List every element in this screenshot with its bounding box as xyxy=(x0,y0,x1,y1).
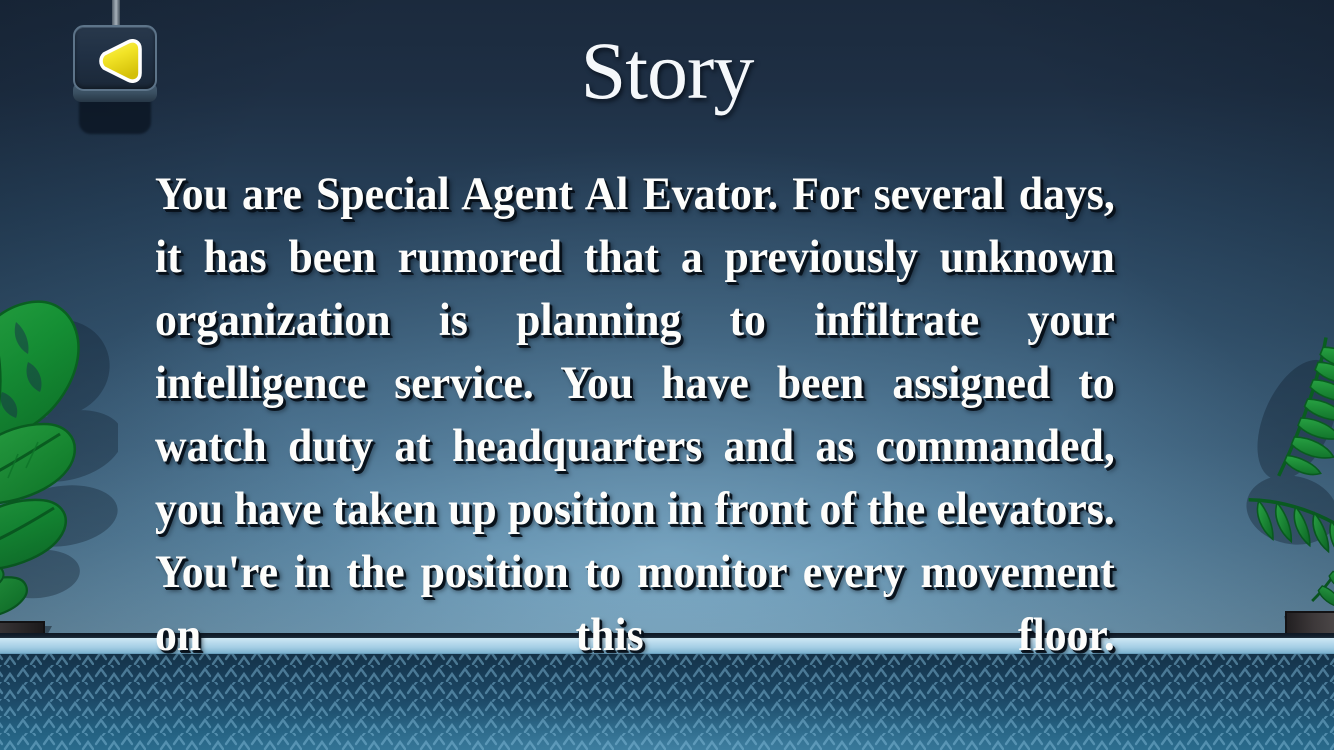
story-screen: Story You are Special Agent Al Evator. F… xyxy=(0,0,1334,750)
page-title: Story xyxy=(0,28,1334,114)
story-text: You are Special Agent Al Evator. For sev… xyxy=(155,163,1115,730)
monstera-plant xyxy=(0,296,118,641)
fern-plant xyxy=(1246,330,1334,640)
